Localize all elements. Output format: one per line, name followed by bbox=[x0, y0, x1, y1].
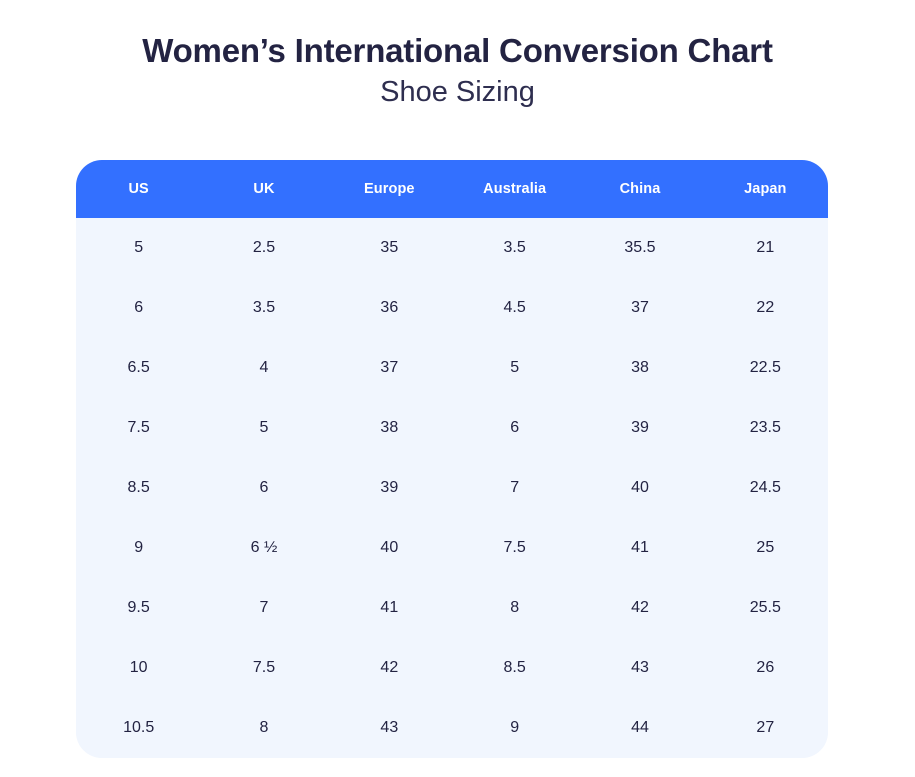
cell-uk: 6 ½ bbox=[201, 518, 326, 578]
table-row: 52.5353.535.521 bbox=[76, 218, 828, 278]
column-header-uk: UK bbox=[201, 160, 326, 218]
cell-china: 42 bbox=[577, 578, 702, 638]
table-row: 6.543753822.5 bbox=[76, 338, 828, 398]
conversion-chart-page: Women’s International Conversion Chart S… bbox=[0, 0, 915, 777]
table-row: 9.574184225.5 bbox=[76, 578, 828, 638]
cell-us: 5 bbox=[76, 218, 201, 278]
cell-china: 35.5 bbox=[577, 218, 702, 278]
cell-australia: 8 bbox=[452, 578, 577, 638]
cell-australia: 8.5 bbox=[452, 638, 577, 698]
cell-us: 8.5 bbox=[76, 458, 201, 518]
column-header-us: US bbox=[76, 160, 201, 218]
cell-japan: 21 bbox=[703, 218, 828, 278]
column-header-china: China bbox=[577, 160, 702, 218]
cell-us: 9 bbox=[76, 518, 201, 578]
cell-japan: 25.5 bbox=[703, 578, 828, 638]
cell-australia: 5 bbox=[452, 338, 577, 398]
cell-europe: 43 bbox=[327, 698, 452, 758]
cell-us: 7.5 bbox=[76, 398, 201, 458]
size-conversion-table: USUKEuropeAustraliaChinaJapan 52.5353.53… bbox=[76, 160, 828, 758]
cell-australia: 6 bbox=[452, 398, 577, 458]
cell-china: 40 bbox=[577, 458, 702, 518]
cell-japan: 25 bbox=[703, 518, 828, 578]
cell-uk: 7.5 bbox=[201, 638, 326, 698]
cell-uk: 4 bbox=[201, 338, 326, 398]
cell-china: 38 bbox=[577, 338, 702, 398]
cell-japan: 24.5 bbox=[703, 458, 828, 518]
cell-uk: 8 bbox=[201, 698, 326, 758]
cell-japan: 26 bbox=[703, 638, 828, 698]
table-row: 63.5364.53722 bbox=[76, 278, 828, 338]
cell-australia: 7 bbox=[452, 458, 577, 518]
size-conversion-table-container: USUKEuropeAustraliaChinaJapan 52.5353.53… bbox=[76, 160, 828, 758]
cell-uk: 5 bbox=[201, 398, 326, 458]
cell-uk: 7 bbox=[201, 578, 326, 638]
cell-china: 37 bbox=[577, 278, 702, 338]
table-header-row: USUKEuropeAustraliaChinaJapan bbox=[76, 160, 828, 218]
cell-europe: 35 bbox=[327, 218, 452, 278]
cell-europe: 36 bbox=[327, 278, 452, 338]
cell-us: 10.5 bbox=[76, 698, 201, 758]
cell-japan: 22.5 bbox=[703, 338, 828, 398]
table-body: 52.5353.535.52163.5364.537226.543753822.… bbox=[76, 218, 828, 758]
page-subtitle: Shoe Sizing bbox=[0, 75, 915, 110]
cell-europe: 37 bbox=[327, 338, 452, 398]
cell-japan: 27 bbox=[703, 698, 828, 758]
column-header-australia: Australia bbox=[452, 160, 577, 218]
cell-australia: 4.5 bbox=[452, 278, 577, 338]
cell-china: 43 bbox=[577, 638, 702, 698]
table-row: 107.5428.54326 bbox=[76, 638, 828, 698]
cell-china: 44 bbox=[577, 698, 702, 758]
cell-uk: 2.5 bbox=[201, 218, 326, 278]
cell-europe: 39 bbox=[327, 458, 452, 518]
cell-uk: 3.5 bbox=[201, 278, 326, 338]
cell-us: 10 bbox=[76, 638, 201, 698]
cell-us: 6.5 bbox=[76, 338, 201, 398]
cell-australia: 9 bbox=[452, 698, 577, 758]
table-row: 8.563974024.5 bbox=[76, 458, 828, 518]
cell-australia: 7.5 bbox=[452, 518, 577, 578]
table-row: 96 ½407.54125 bbox=[76, 518, 828, 578]
cell-china: 41 bbox=[577, 518, 702, 578]
page-title: Women’s International Conversion Chart bbox=[0, 31, 915, 71]
cell-europe: 38 bbox=[327, 398, 452, 458]
cell-europe: 40 bbox=[327, 518, 452, 578]
cell-us: 9.5 bbox=[76, 578, 201, 638]
cell-china: 39 bbox=[577, 398, 702, 458]
title-block: Women’s International Conversion Chart S… bbox=[0, 0, 915, 109]
cell-australia: 3.5 bbox=[452, 218, 577, 278]
cell-japan: 23.5 bbox=[703, 398, 828, 458]
cell-us: 6 bbox=[76, 278, 201, 338]
table-row: 7.553863923.5 bbox=[76, 398, 828, 458]
cell-europe: 41 bbox=[327, 578, 452, 638]
cell-japan: 22 bbox=[703, 278, 828, 338]
cell-uk: 6 bbox=[201, 458, 326, 518]
table-row: 10.584394427 bbox=[76, 698, 828, 758]
column-header-japan: Japan bbox=[703, 160, 828, 218]
cell-europe: 42 bbox=[327, 638, 452, 698]
column-header-europe: Europe bbox=[327, 160, 452, 218]
table-header: USUKEuropeAustraliaChinaJapan bbox=[76, 160, 828, 218]
